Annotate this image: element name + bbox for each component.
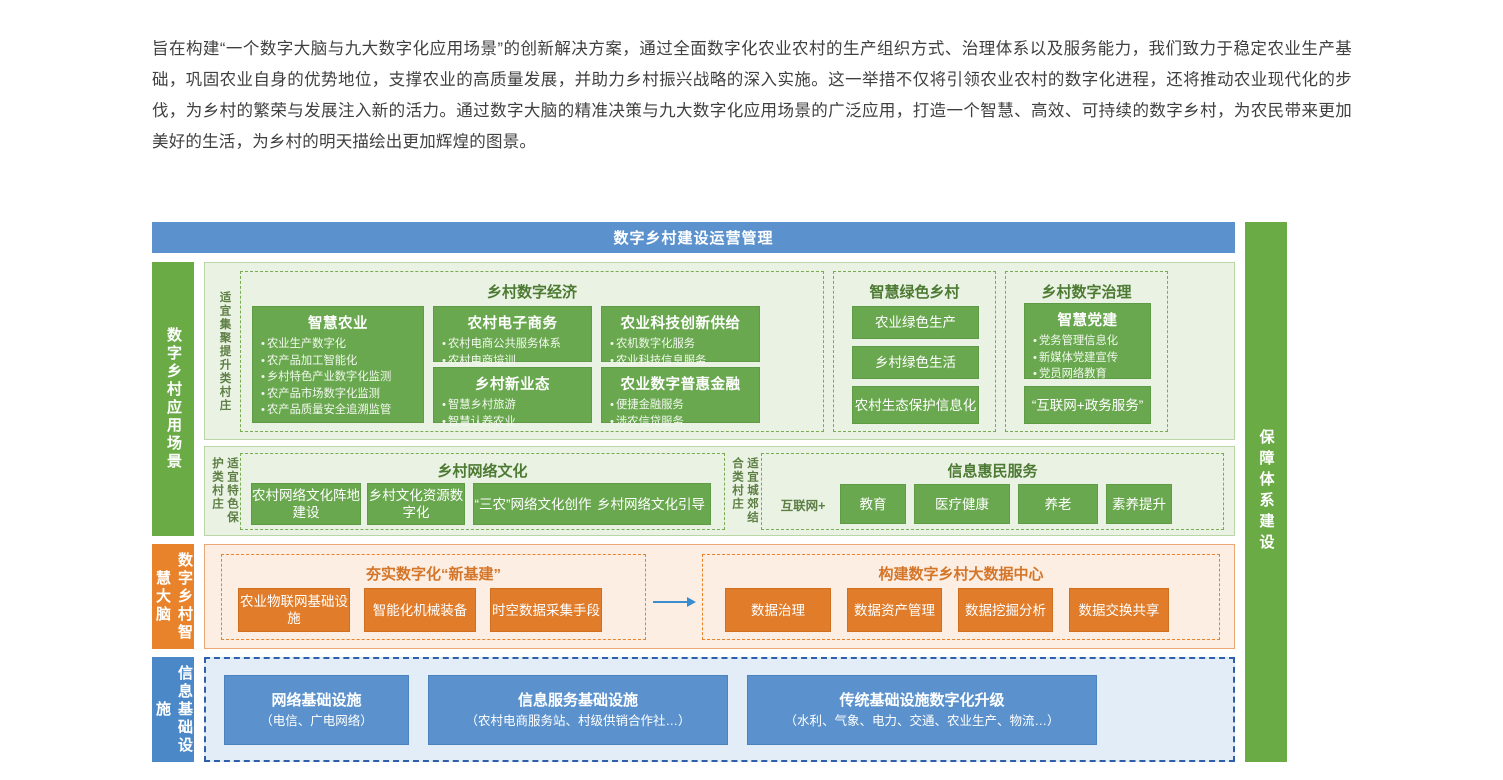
- box-elderly-care[interactable]: 养老: [1018, 484, 1098, 524]
- box-subtitle: （电信、广电网络）: [260, 712, 373, 731]
- list-item: 党务管理信息化: [1033, 333, 1150, 350]
- box-title: 农村电子商务: [434, 307, 591, 333]
- box-items: 农村电商公共服务体系 农村电商培训: [434, 336, 591, 369]
- list-item: 乡村特色产业数字化监测: [261, 369, 423, 386]
- group-title-benefit-service: 信息惠民服务: [762, 460, 1223, 481]
- village-type-cluster: 适宜集聚提升类村庄: [214, 281, 234, 423]
- box-intelligent-machinery[interactable]: 智能化机械装备: [364, 588, 476, 632]
- box-culture-position[interactable]: 农村网络文化阵地建设: [251, 483, 361, 525]
- list-item: 智慧乡村旅游: [442, 397, 591, 414]
- label-internet-plus: 互联网+: [770, 487, 836, 521]
- list-item: 农产品加工智能化: [261, 353, 423, 370]
- box-spatiotemporal-data-collection[interactable]: 时空数据采集手段: [490, 588, 602, 632]
- list-item: 农业生产数字化: [261, 336, 423, 353]
- box-agri-tech-innovation[interactable]: 农业科技创新供给 农机数字化服务 农业科技信息服务: [601, 306, 760, 362]
- box-title: 信息服务基础设施: [518, 690, 638, 712]
- list-item: 党员网络教育: [1033, 366, 1150, 383]
- village-type-suburban: 适宜城郊结合类村庄: [734, 457, 754, 529]
- list-item: 智慧认养农业: [442, 414, 591, 431]
- box-sannong-culture-creation[interactable]: “三农”网络文化创作: [473, 483, 592, 525]
- side-label-info-infrastructure: 信息基础设施: [152, 657, 194, 762]
- group-network-culture: 乡村网络文化 农村网络文化阵地建设 乡村文化资源数字化 “三农”网络文化创作 乡…: [240, 453, 725, 530]
- flow-arrow-icon: [653, 597, 698, 607]
- box-items: 智慧乡村旅游 智慧认养农业: [434, 397, 591, 430]
- list-item: 农机数字化服务: [610, 336, 759, 353]
- box-title: 农业数字普惠金融: [602, 368, 759, 394]
- list-item: 农产品质量安全追溯监管: [261, 402, 423, 419]
- architecture-diagram: 数字乡村建设运营管理 保障体系建设 数字乡村应用场景 数字乡村智慧大脑 信息基础…: [152, 222, 1352, 762]
- box-title: 智慧农业: [253, 307, 423, 333]
- village-type-feature: 适宜特色保护类村庄: [214, 457, 234, 529]
- box-data-mining-analysis[interactable]: 数据挖掘分析: [958, 588, 1053, 632]
- row-info-infrastructure: 网络基础设施 （电信、广电网络） 信息服务基础设施 （农村电商服务站、村级供销合…: [204, 657, 1235, 762]
- box-agri-digital-finance[interactable]: 农业数字普惠金融 便捷金融服务 涉农信贷服务: [601, 367, 760, 423]
- page-root: 旨在构建“一个数字大脑与九大数字化应用场景”的创新解决方案，通过全面数字化农业农…: [0, 0, 1503, 780]
- box-rural-new-business[interactable]: 乡村新业态 智慧乡村旅游 智慧认养农业: [433, 367, 592, 423]
- list-item: 便捷金融服务: [610, 397, 759, 414]
- box-smart-agriculture[interactable]: 智慧农业 农业生产数字化 农产品加工智能化 乡村特色产业数字化监测 农产品市场数…: [252, 306, 424, 423]
- list-item: 农村电商公共服务体系: [442, 336, 591, 353]
- group-digital-economy: 乡村数字经济 智慧农业 农业生产数字化 农产品加工智能化 乡村特色产业数字化监测…: [240, 271, 824, 432]
- box-green-production[interactable]: 农业绿色生产: [852, 306, 979, 339]
- list-item: 农产品市场数字化监测: [261, 386, 423, 403]
- group-benefit-service: 信息惠民服务 互联网+ 教育 医疗健康 养老 素养提升: [761, 453, 1224, 530]
- box-items: 农机数字化服务 农业科技信息服务: [602, 336, 759, 369]
- row-digital-brain: 夯实数字化“新基建” 农业物联网基础设施 智能化机械装备 时空数据采集手段 构建…: [204, 544, 1235, 649]
- list-item: 新媒体党建宣传: [1033, 350, 1150, 367]
- row-application-upper: 适宜集聚提升类村庄 乡村数字经济 智慧农业 农业生产数字化 农产品加工智能化 乡…: [204, 262, 1235, 440]
- box-title: 网络基础设施: [271, 690, 361, 712]
- box-eco-protection[interactable]: 农村生态保护信息化: [852, 386, 979, 424]
- box-title: 传统基础设施数字化升级: [839, 690, 1004, 712]
- box-smart-party-building[interactable]: 智慧党建 党务管理信息化 新媒体党建宣传 党员网络教育: [1024, 303, 1151, 379]
- box-data-asset-management[interactable]: 数据资产管理: [847, 588, 942, 632]
- box-title: 农业科技创新供给: [602, 307, 759, 333]
- box-internet-plus-gov-service[interactable]: “互联网+政务服务”: [1024, 386, 1151, 424]
- box-education[interactable]: 教育: [840, 484, 906, 524]
- diagram-top-banner: 数字乡村建设运营管理: [152, 222, 1235, 253]
- box-rural-ecommerce[interactable]: 农村电子商务 农村电商公共服务体系 农村电商培训: [433, 306, 592, 362]
- group-digital-governance: 乡村数字治理 智慧党建 党务管理信息化 新媒体党建宣传 党员网络教育 “互联网+…: [1005, 271, 1168, 432]
- list-item: 涉农信贷服务: [610, 414, 759, 431]
- box-literacy-improvement[interactable]: 素养提升: [1106, 484, 1172, 524]
- side-label-application-scenarios: 数字乡村应用场景: [152, 262, 194, 536]
- group-title-big-data-center: 构建数字乡村大数据中心: [703, 563, 1219, 584]
- group-title-digital-economy: 乡村数字经济: [241, 281, 823, 302]
- box-green-living[interactable]: 乡村绿色生活: [852, 346, 979, 379]
- box-data-governance[interactable]: 数据治理: [725, 588, 831, 632]
- side-label-digital-brain: 数字乡村智慧大脑: [152, 544, 194, 649]
- group-title-network-culture: 乡村网络文化: [241, 460, 724, 481]
- right-vertical-bar-support-system: 保障体系建设: [1245, 222, 1287, 762]
- intro-paragraph: 旨在构建“一个数字大脑与九大数字化应用场景”的创新解决方案，通过全面数字化农业农…: [152, 34, 1352, 158]
- group-smart-green-village: 智慧绿色乡村 农业绿色生产 乡村绿色生活 农村生态保护信息化: [833, 271, 996, 432]
- box-culture-guidance[interactable]: 乡村网络文化引导: [592, 483, 711, 525]
- box-items: 党务管理信息化 新媒体党建宣传 党员网络教育: [1025, 333, 1150, 383]
- box-title: 智慧党建: [1025, 304, 1150, 330]
- box-culture-resource-digitization[interactable]: 乡村文化资源数字化: [367, 483, 465, 525]
- box-traditional-infrastructure-upgrade[interactable]: 传统基础设施数字化升级 （水利、气象、电力、交通、农业生产、物流…）: [747, 675, 1097, 745]
- group-new-infrastructure: 夯实数字化“新基建” 农业物联网基础设施 智能化机械装备 时空数据采集手段: [221, 554, 646, 640]
- box-info-service-infrastructure[interactable]: 信息服务基础设施 （农村电商服务站、村级供销合作社…）: [428, 675, 728, 745]
- box-data-exchange-sharing[interactable]: 数据交换共享: [1069, 588, 1169, 632]
- group-title-digital-governance: 乡村数字治理: [1006, 281, 1167, 302]
- box-items: 农业生产数字化 农产品加工智能化 乡村特色产业数字化监测 农产品市场数字化监测 …: [253, 336, 423, 419]
- box-title: 乡村新业态: [434, 368, 591, 394]
- group-big-data-center: 构建数字乡村大数据中心 数据治理 数据资产管理 数据挖掘分析 数据交换共享: [702, 554, 1220, 640]
- row-application-lower: 适宜特色保护类村庄 乡村网络文化 农村网络文化阵地建设 乡村文化资源数字化 “三…: [204, 446, 1235, 536]
- box-items: 便捷金融服务 涉农信贷服务: [602, 397, 759, 430]
- group-title-smart-green-village: 智慧绿色乡村: [834, 281, 995, 302]
- box-subtitle: （水利、气象、电力、交通、农业生产、物流…）: [784, 712, 1059, 731]
- box-subtitle: （农村电商服务站、村级供销合作社…）: [465, 712, 690, 731]
- box-medical-health[interactable]: 医疗健康: [914, 484, 1010, 524]
- box-agri-iot-infrastructure[interactable]: 农业物联网基础设施: [238, 588, 350, 632]
- box-network-infrastructure[interactable]: 网络基础设施 （电信、广电网络）: [224, 675, 409, 745]
- group-title-new-infrastructure: 夯实数字化“新基建”: [222, 563, 645, 584]
